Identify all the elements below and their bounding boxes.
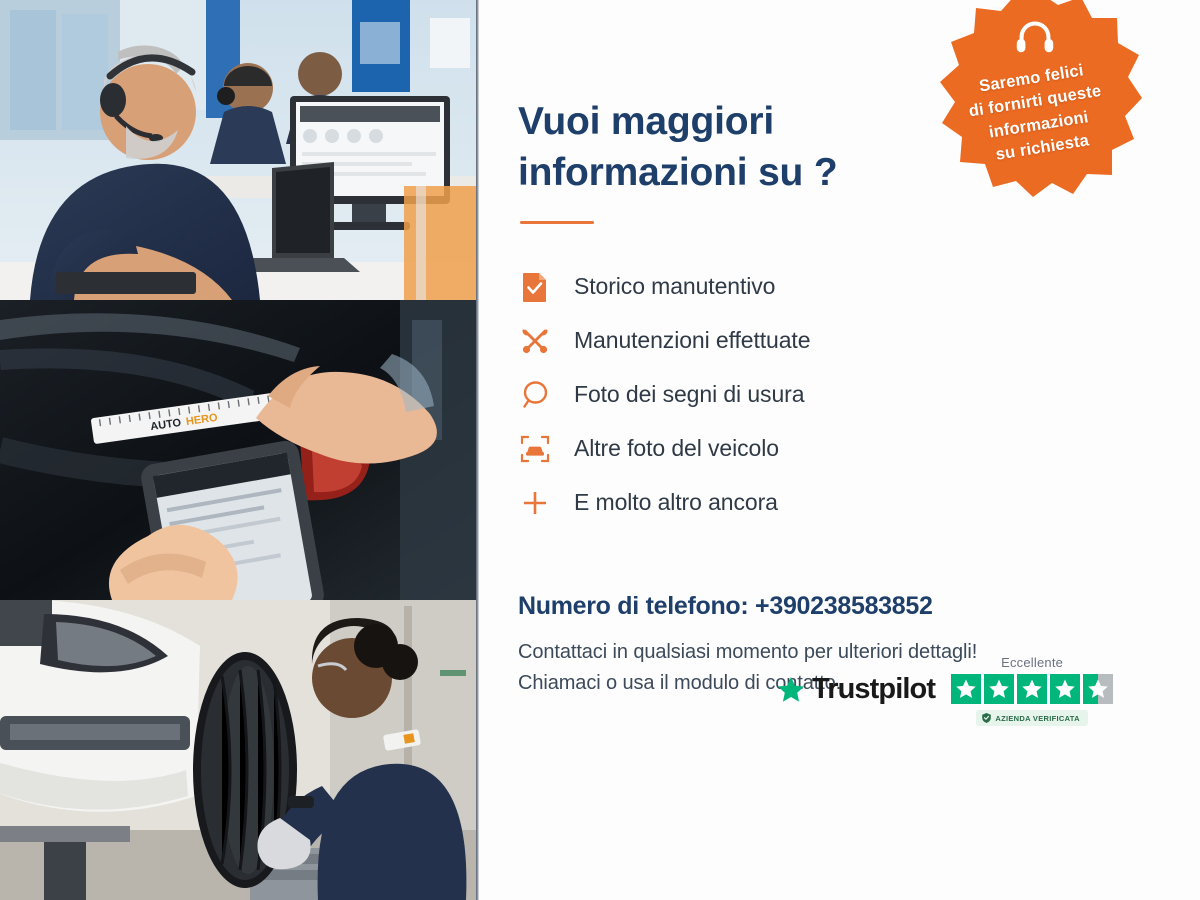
plus-icon [518, 489, 552, 517]
trustpilot-wordmark: Trustpilot [812, 673, 935, 706]
feature-label: Altre foto del veicolo [574, 435, 779, 462]
trustpilot-rating: Eccellente [951, 655, 1113, 726]
star-filled [951, 674, 981, 704]
star-half [1083, 674, 1113, 704]
feature-label: Foto dei segni di usura [574, 381, 804, 408]
call-center-agents-photo [0, 0, 478, 300]
document-check-icon [518, 272, 552, 302]
feature-label: E molto altro ancora [574, 489, 778, 516]
verified-business-badge: AZIENDA VERIFICATA [976, 710, 1087, 726]
trustpilot-logo: Trustpilot [776, 673, 935, 706]
feature-item-wear-photos: Foto dei segni di usura [518, 368, 1200, 422]
headline-line-1: Vuoi maggiori [518, 100, 774, 143]
shield-check-icon [982, 713, 991, 723]
feature-list: Storico manutentivo Manutenzi [518, 260, 1200, 530]
feature-item-more-photos: Altre foto del veicolo [518, 422, 1200, 476]
tools-icon [518, 326, 552, 356]
trustpilot-star-icon [776, 675, 806, 705]
marketing-info-page: AUTO HERO [0, 0, 1200, 900]
car-scan-icon [518, 434, 552, 464]
feature-item-service-history: Storico manutentivo [518, 260, 1200, 314]
star-filled [984, 674, 1014, 704]
headline-line-2: informazioni su ? [518, 151, 837, 194]
vehicle-inspection-photo: AUTO HERO [0, 300, 478, 600]
trustpilot-widget[interactable]: Trustpilot Eccellente [776, 655, 1113, 726]
request-info-badge: Saremo felici di fornirti queste informa… [924, 0, 1150, 221]
phone-number[interactable]: Numero di telefono: +390238583852 [518, 592, 1200, 621]
page-title: Vuoi maggiori informazioni su ? [518, 96, 938, 199]
feature-item-maintenance-done: Manutenzioni effettuate [518, 314, 1200, 368]
feature-item-much-more: E molto altro ancora [518, 476, 1200, 530]
star-filled [1050, 674, 1080, 704]
star-rating [951, 674, 1113, 704]
feature-label: Manutenzioni effettuate [574, 327, 810, 354]
magnifier-icon [518, 380, 552, 410]
feature-label: Storico manutentivo [574, 273, 775, 300]
tire-service-photo [0, 600, 478, 900]
photo-gallery: AUTO HERO [0, 0, 478, 900]
title-underline [520, 221, 594, 224]
info-panel: Vuoi maggiori informazioni su ? Saremo f… [478, 0, 1200, 900]
rating-label: Eccellente [1001, 655, 1063, 670]
headset-icon [1012, 13, 1058, 59]
vertical-divider [476, 0, 479, 900]
star-filled [1017, 674, 1047, 704]
verified-label: AZIENDA VERIFICATA [995, 714, 1079, 723]
